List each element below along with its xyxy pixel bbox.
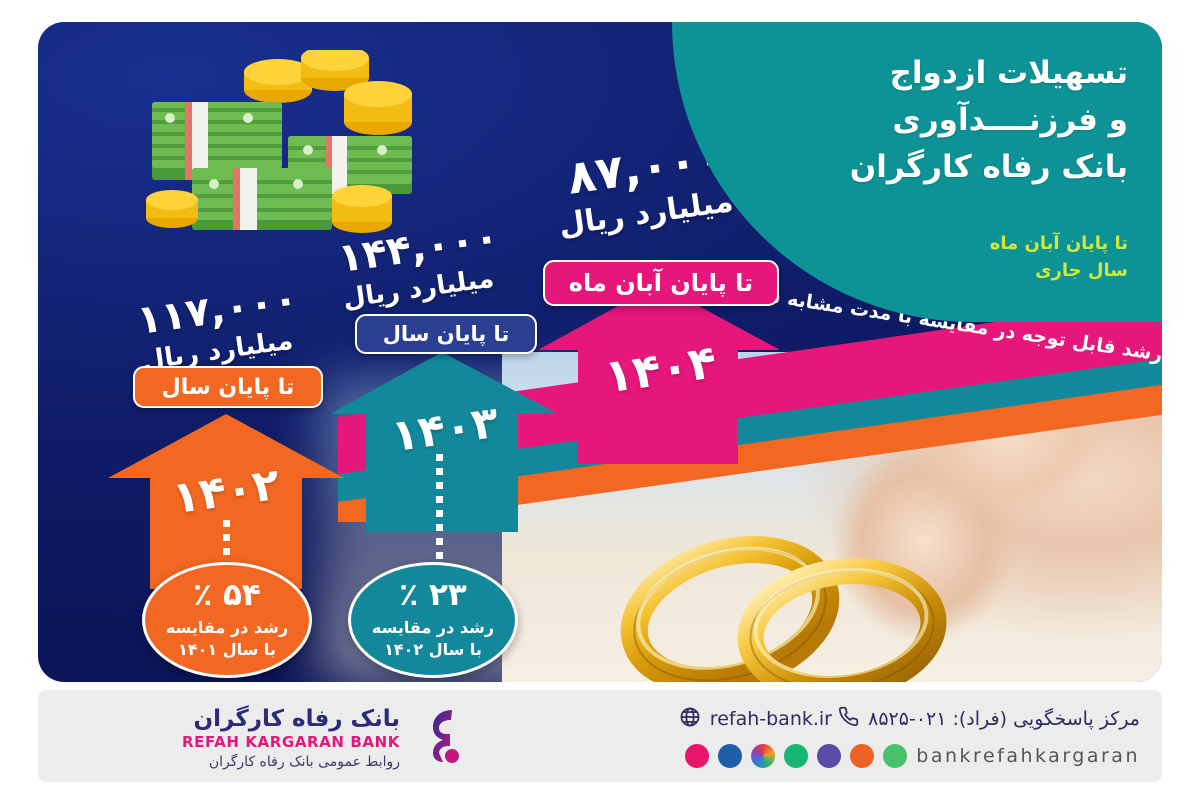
- footer-bar: مرکز پاسخگویی (فراد): ۰۲۱-۸۵۲۵ refah-ban…: [38, 690, 1162, 782]
- growth-circle-1403: ۲۳ ٪ رشد در مقایسه با سال ۱۴۰۲: [348, 562, 518, 678]
- logo-text-group: بانک رفاه کارگران REFAH KARGARAN BANK رو…: [182, 706, 400, 770]
- logo-name-en: REFAH KARGARAN BANK: [182, 733, 400, 751]
- infographic-root: رشد قابل توجه در مقایسه با مدت مشابه سال…: [0, 0, 1200, 800]
- wedding-rings-illustration: [580, 520, 1000, 682]
- footer-social-handle: bankrefahkargaran: [916, 745, 1140, 767]
- refah-logo-mark: [412, 707, 468, 769]
- footer-social-row: bankrefahkargaran: [685, 744, 1140, 768]
- page-title-line3: بانک رفاه کارگران: [708, 144, 1128, 191]
- connector-line-1403: [436, 454, 443, 564]
- value-block-1403: ۱۴۴,۰۰۰ میلیارد ریال: [326, 228, 511, 305]
- value-block-1402: ۱۱۷,۰۰۰ میلیارد ریال: [130, 290, 305, 367]
- money-stacks-illustration: [130, 50, 420, 245]
- main-card: رشد قابل توجه در مقایسه با مدت مشابه سال…: [38, 22, 1162, 682]
- globe-icon: [679, 706, 701, 732]
- bale-icon[interactable]: [718, 744, 742, 768]
- footer-phone-text: مرکز پاسخگویی (فراد): ۰۲۱-۸۵۲۵: [868, 708, 1140, 730]
- footer-phone-row: مرکز پاسخگویی (فراد): ۰۲۱-۸۵۲۵: [838, 706, 1140, 731]
- soroush-icon[interactable]: [883, 744, 907, 768]
- page-subtitle: تا پایان آبان ماه سال جاری: [708, 230, 1128, 284]
- growth-circle-1402: ۵۴ ٪ رشد در مقایسه با سال ۱۴۰۱: [142, 562, 312, 678]
- page-subtitle-line2: سال جاری: [708, 257, 1128, 284]
- growth-label-1402-line1: رشد در مقایسه: [166, 617, 288, 639]
- footer-website-text[interactable]: refah-bank.ir: [710, 708, 832, 730]
- aparat-icon[interactable]: [685, 744, 709, 768]
- logo-name-fa: بانک رفاه کارگران: [194, 706, 400, 732]
- logo-public-relations: روابط عمومی بانک رفاه کارگران: [209, 754, 400, 770]
- page-title-line2: و فرزنــــدآوری: [708, 97, 1128, 144]
- bar-arrow-1404: ۱۴۰۴: [538, 284, 783, 464]
- growth-label-1403-line1: رشد در مقایسه: [372, 617, 494, 639]
- page-subtitle-line1: تا پایان آبان ماه: [708, 230, 1128, 257]
- bank-logo: بانک رفاه کارگران REFAH KARGARAN BANK رو…: [98, 704, 468, 772]
- eitaa-alt-icon[interactable]: [850, 744, 874, 768]
- growth-percent-1402: ۵۴ ٪: [193, 580, 261, 611]
- connector-line-1402: [223, 520, 230, 566]
- period-badge-1402: تا پایان سال: [133, 366, 323, 408]
- page-title-line1: تسهیلات ازدواج: [708, 50, 1128, 97]
- growth-percent-1403: ۲۳ ٪: [399, 580, 467, 611]
- eitaa-icon[interactable]: [817, 744, 841, 768]
- growth-label-1403-line2: با سال ۱۴۰۲: [384, 639, 482, 661]
- rubika-icon[interactable]: [751, 744, 775, 768]
- bar-arrow-1403: ۱۴۰۳: [330, 352, 560, 532]
- phone-icon: [838, 706, 859, 731]
- footer-website-row[interactable]: refah-bank.ir: [679, 706, 832, 732]
- page-title: تسهیلات ازدواج و فرزنــــدآوری بانک رفاه…: [708, 50, 1128, 191]
- growth-label-1402-line2: با سال ۱۴۰۱: [178, 639, 276, 661]
- ita-icon[interactable]: [784, 744, 808, 768]
- period-badge-1403: تا پایان سال: [355, 314, 537, 354]
